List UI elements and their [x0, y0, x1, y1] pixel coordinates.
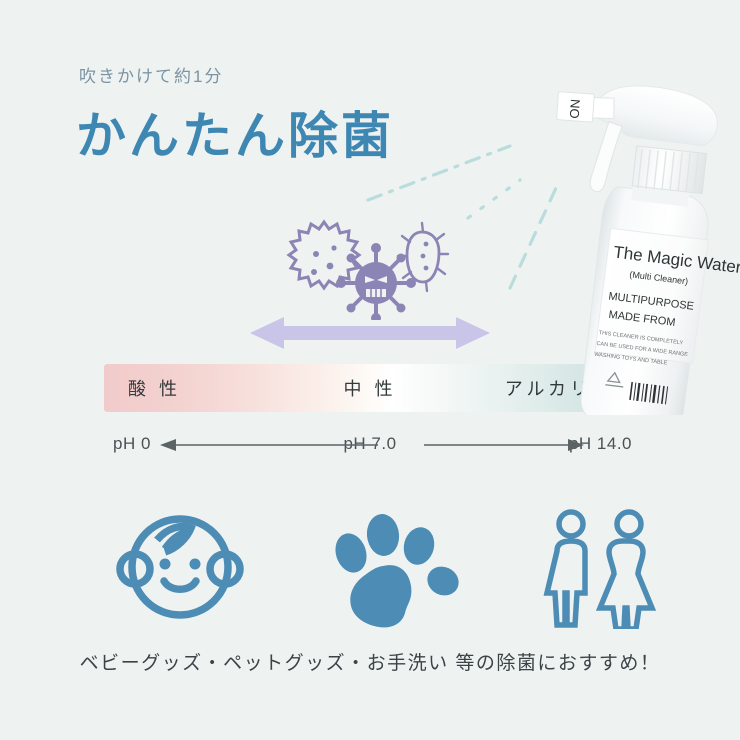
ph-label-neutral: 中 性	[343, 375, 396, 401]
trigger-on-tag: ON	[567, 99, 583, 119]
usage-icon-row	[0, 500, 740, 635]
spray-bottle-image: ON The Magic Water (Multi Cleaner) MULTI…	[530, 85, 740, 415]
subtitle-text: 吹きかけて約1分	[79, 62, 223, 87]
ph-label-acidic: 酸 性	[128, 375, 181, 401]
paw-print-icon	[318, 500, 478, 635]
poster-canvas: 吹きかけて約1分 かんたん除菌	[0, 0, 740, 740]
ph-value-axis: pH 0 pH 7.0 pH 14.0	[104, 432, 636, 460]
restroom-people-icon	[520, 500, 680, 635]
page-title: かんたん除菌	[76, 96, 394, 168]
range-double-arrow	[250, 315, 490, 351]
angry-virus-filled	[336, 243, 416, 320]
baby-face-icon	[100, 500, 260, 635]
germ-illustration-group	[280, 210, 450, 320]
usage-caption: ベビーグッズ・ペットグッズ・お手洗い 等の除菌におすすめ！	[0, 648, 740, 675]
